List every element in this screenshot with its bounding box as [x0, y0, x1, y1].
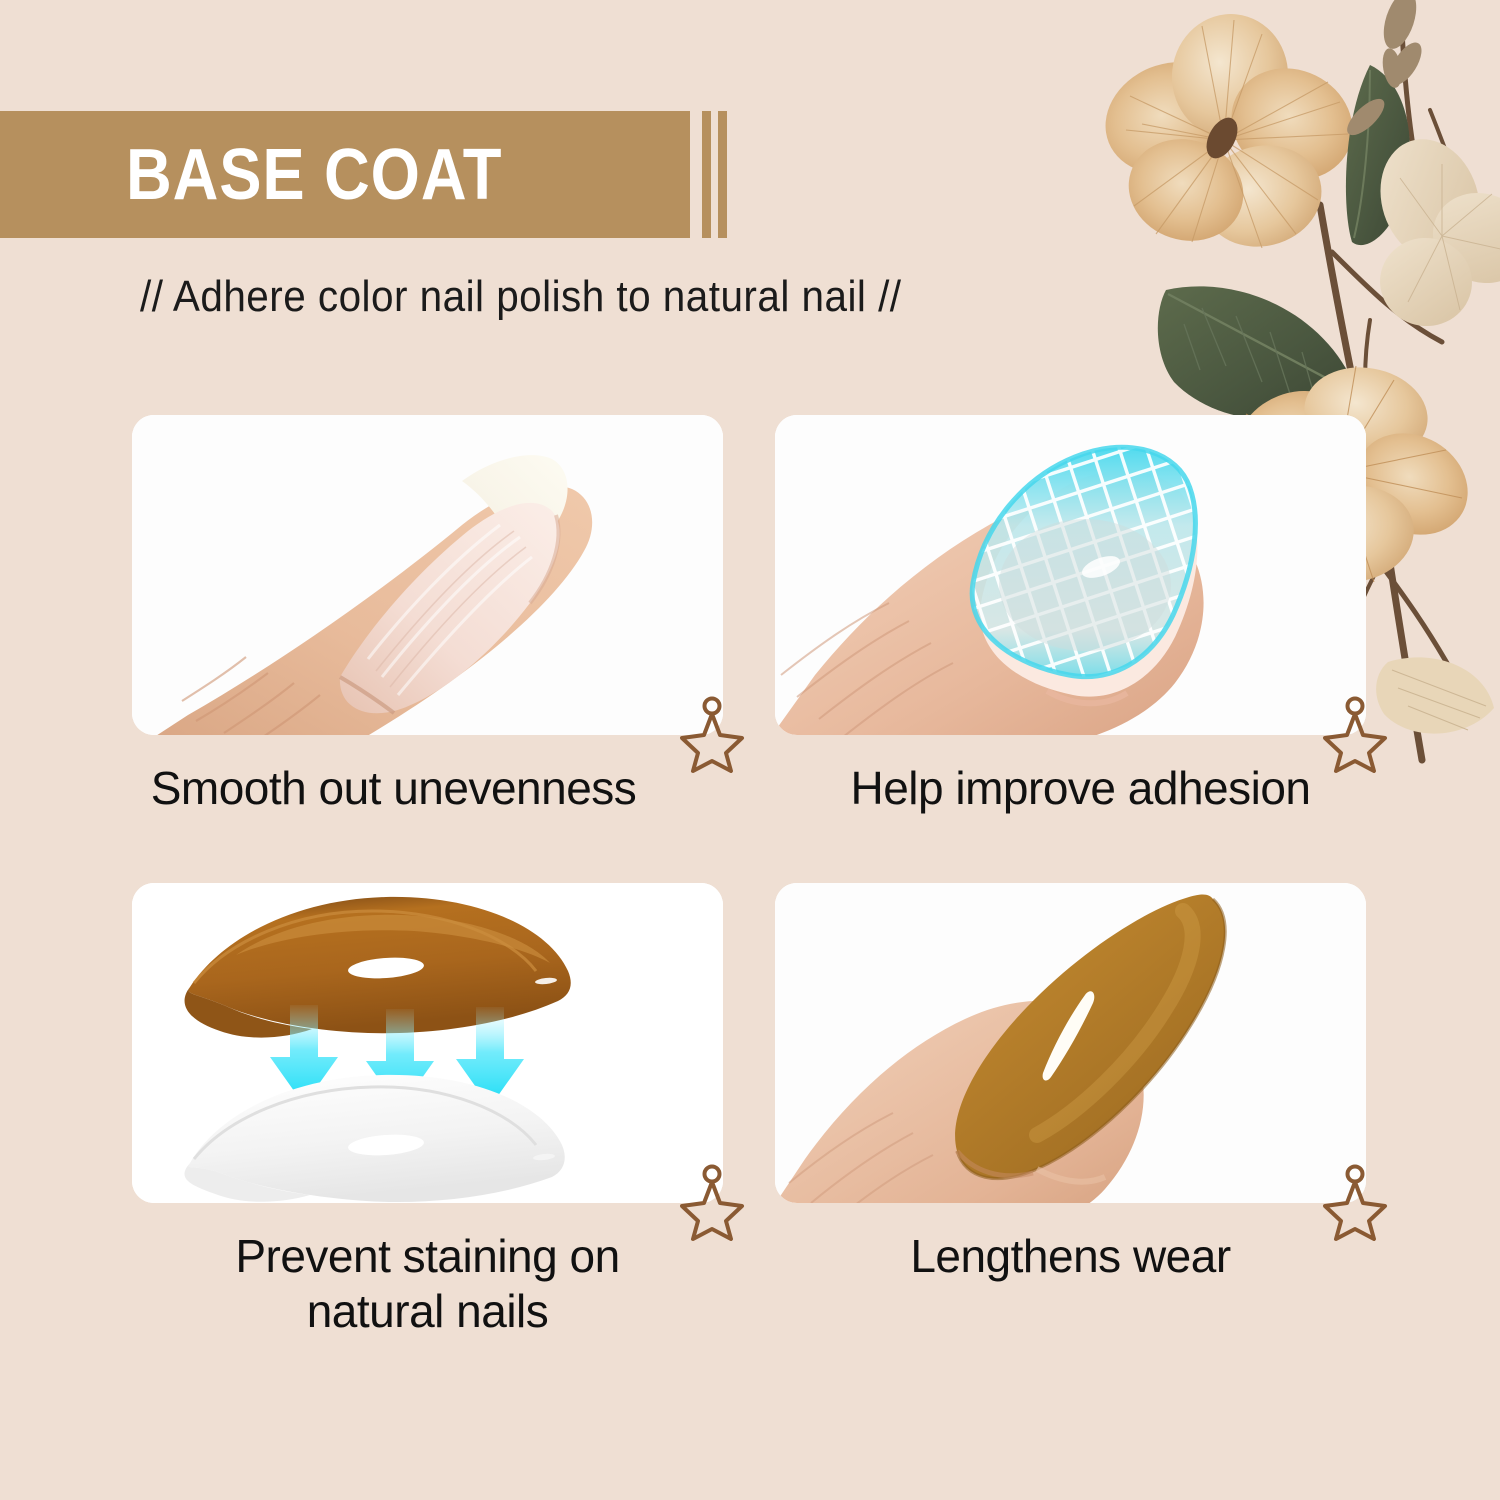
star-charm-icon [1320, 695, 1390, 773]
card-image-adhesion-mesh [775, 415, 1366, 735]
feature-card-4[interactable] [775, 883, 1366, 1203]
feature-cell-2: Help improve adhesion [775, 415, 1366, 815]
star-charm-icon [677, 695, 747, 773]
feature-card-2[interactable] [775, 415, 1366, 735]
star-charm-icon [677, 1163, 747, 1241]
feature-cell-3: Prevent staining on natural nails [132, 883, 723, 1338]
page-subtitle: // Adhere color nail polish to natural n… [140, 272, 901, 322]
page-title: BASE COAT [126, 134, 502, 216]
card-row-bottom: Prevent staining on natural nails [132, 883, 1366, 1338]
header-banner: BASE COAT [0, 111, 727, 238]
star-charm-icon [1320, 1163, 1390, 1241]
card-image-painted-nail [775, 883, 1366, 1203]
card-image-polish-layer [132, 883, 723, 1203]
feature-card-3[interactable] [132, 883, 723, 1203]
card-row-top: Smooth out unevenness [132, 415, 1366, 815]
feature-card-1[interactable] [132, 415, 723, 735]
card-caption-3-line1: Prevent staining on [132, 1229, 723, 1283]
feature-cell-1: Smooth out unevenness [132, 415, 723, 815]
card-image-bare-nail [132, 415, 723, 735]
card-caption-1: Smooth out unevenness [98, 761, 689, 815]
banner-block: BASE COAT [0, 111, 690, 238]
banner-accent-bar-1 [702, 111, 711, 238]
feature-cell-4: Lengthens wear [775, 883, 1366, 1338]
card-caption-3: Prevent staining on natural nails [132, 1229, 723, 1338]
card-caption-2: Help improve adhesion [785, 761, 1376, 815]
card-caption-3-line2: natural nails [132, 1284, 723, 1338]
banner-accent-bar-2 [718, 111, 727, 238]
feature-card-grid: Smooth out unevenness [132, 415, 1366, 1338]
card-caption-4: Lengthens wear [775, 1229, 1366, 1283]
